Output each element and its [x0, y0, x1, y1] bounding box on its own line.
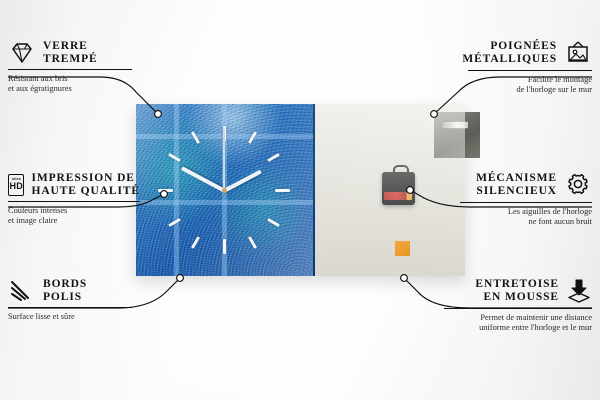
foam-spacer [395, 241, 410, 256]
battery [384, 192, 412, 200]
callout-divider [468, 70, 592, 71]
callout-mecanisme-silencieux: MÉCANISME SILENCIEUX Les aiguilles de l'… [460, 172, 592, 227]
diamond-icon [8, 41, 36, 65]
infographic-canvas: VERRE TREMPÉ Résistant aux bris et aux é… [0, 0, 600, 400]
callout-verre-trempe: VERRE TREMPÉ Résistant aux bris et aux é… [8, 40, 132, 95]
callout-header: MÉCANISME SILENCIEUX [460, 172, 592, 198]
callout-description-line: Facilite le montage [468, 75, 592, 85]
callout-divider [8, 307, 132, 308]
callout-header: BORDS POLIS [8, 278, 132, 303]
callout-divider [8, 69, 132, 70]
clock-back-panel [312, 104, 465, 276]
callout-header: POIGNÉES MÉTALLIQUES [468, 40, 592, 66]
callout-header: ENTRETOISE EN MOUSSE [444, 278, 592, 304]
callout-description-line: ne font aucun bruit [460, 217, 592, 227]
callout-title: POIGNÉES MÉTALLIQUES [462, 40, 557, 65]
callout-entretoise-en-mousse: ENTRETOISE EN MOUSSE Permet de maintenir… [444, 278, 592, 333]
callout-title: ENTRETOISE EN MOUSSE [475, 278, 559, 303]
callout-title: VERRE TREMPÉ [43, 40, 98, 65]
callout-description-line: et aux égratignures [8, 84, 132, 94]
metal-hanging-bracket [434, 112, 480, 158]
callout-description-line: Permet de maintenir une distance [444, 313, 592, 323]
movement-hanger-loop [393, 165, 409, 176]
callout-header: VERRE TREMPÉ [8, 40, 132, 65]
callout-divider [460, 202, 592, 203]
callout-description-line: de l'horloge sur le mur [468, 85, 592, 95]
foam-spacer-arrow-icon [566, 278, 592, 304]
callout-title: IMPRESSION DE HAUTE QUALITÉ [31, 172, 140, 197]
callout-description-line: Résistant aux bris [8, 74, 132, 84]
callout-divider [444, 308, 592, 309]
callout-description-line: uniforme entre l'horloge et le mur [444, 323, 592, 333]
glass-clock-face [136, 104, 315, 276]
callout-title: BORDS POLIS [43, 278, 87, 303]
glass-reflection [136, 104, 313, 276]
gear-icon [564, 172, 592, 198]
hanging-frame-icon [564, 40, 592, 66]
ultra-hd-badge-icon: ultra HD [8, 174, 24, 196]
quartz-movement-box [382, 172, 415, 205]
callout-impression-haute-qualite: ultra HD IMPRESSION DE HAUTE QUALITÉ Cou… [8, 172, 140, 227]
polished-edges-icon [8, 280, 36, 302]
callout-divider [8, 201, 140, 202]
callout-description-line: Surface lisse et sûre [8, 312, 132, 322]
callout-description-line: Les aiguilles de l'horloge [460, 207, 592, 217]
callout-header: ultra HD IMPRESSION DE HAUTE QUALITÉ [8, 172, 140, 197]
callout-bords-polis: BORDS POLIS Surface lisse et sûre [8, 278, 132, 322]
callout-title: MÉCANISME SILENCIEUX [476, 172, 557, 197]
callout-description-line: Couleurs intenses [8, 206, 140, 216]
ultra-hd-badge-main-text: HD [10, 182, 23, 191]
product-photo [136, 104, 465, 276]
callout-description-line: et image claire [8, 216, 140, 226]
callout-poignees-metalliques: POIGNÉES MÉTALLIQUES Facilite le montage… [468, 40, 592, 95]
